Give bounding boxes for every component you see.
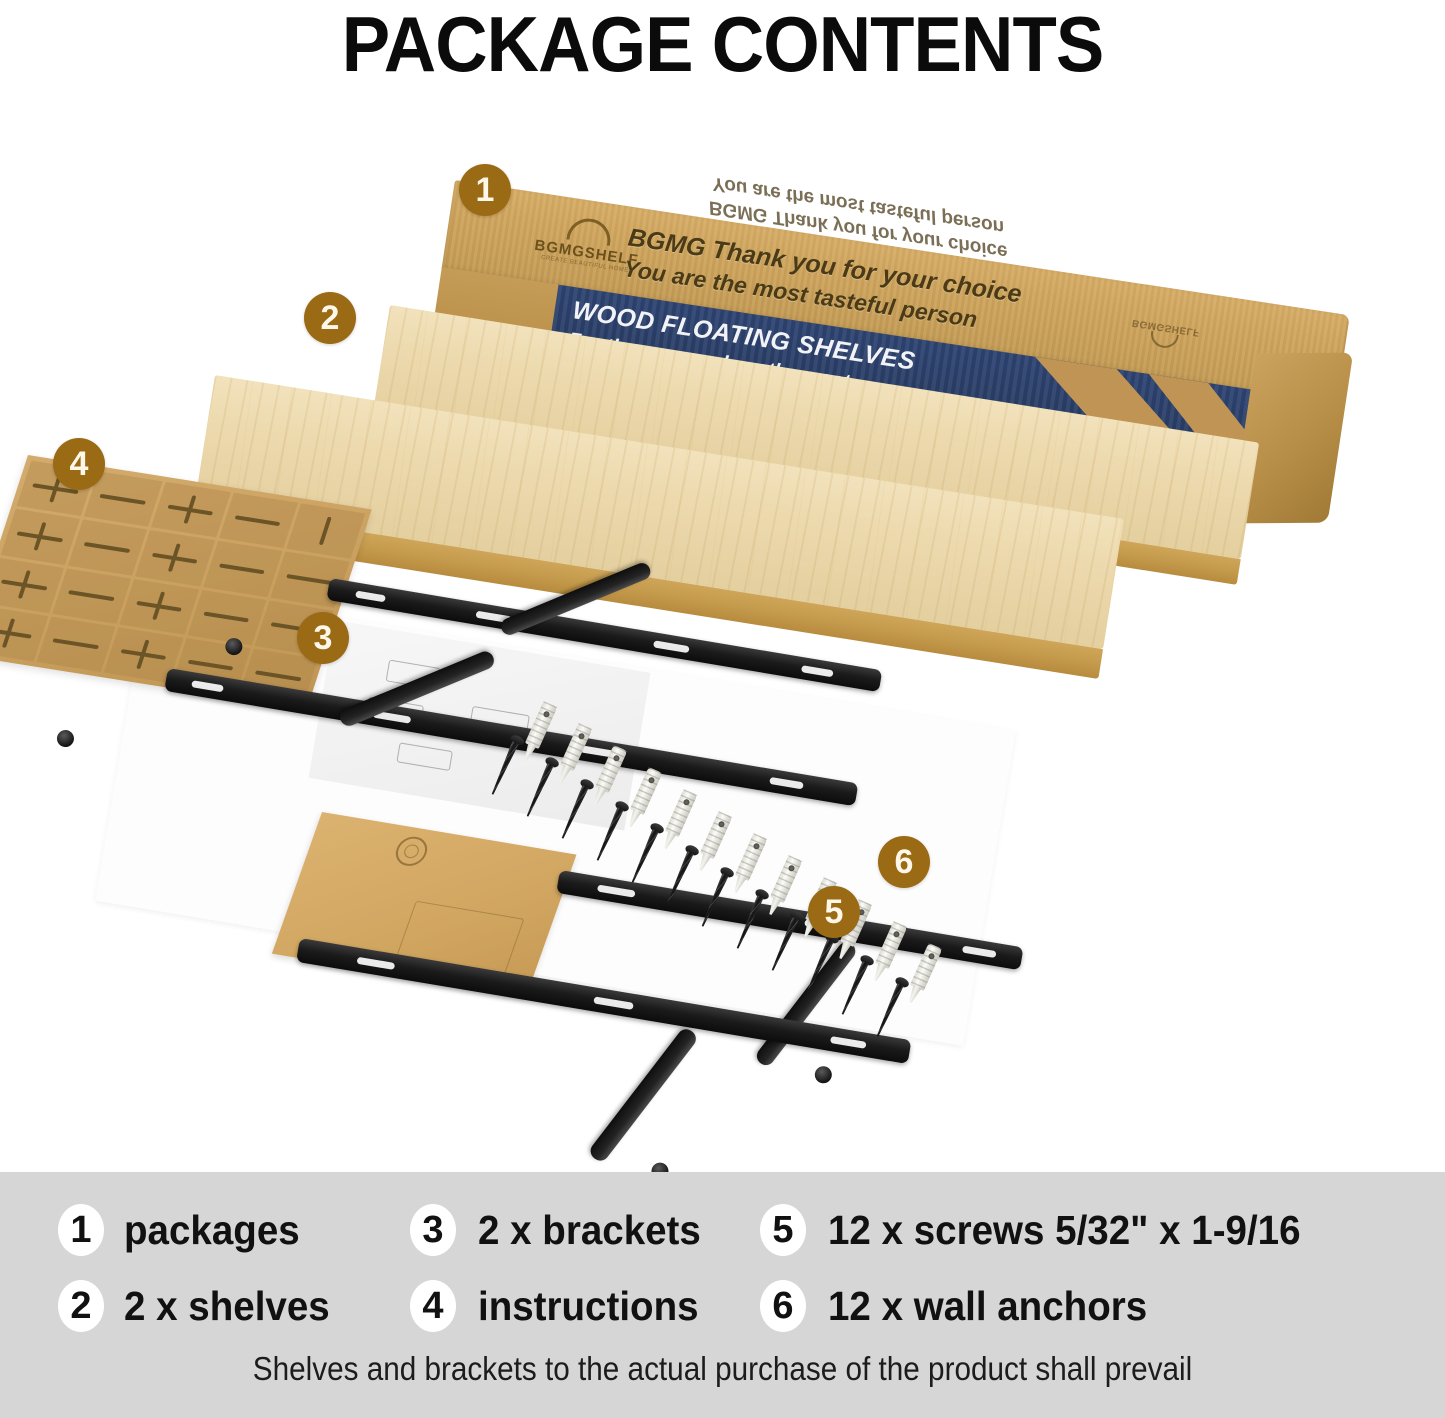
legend-item-6: 6 12 x wall anchors bbox=[760, 1280, 1403, 1332]
saw-blade-icon bbox=[566, 216, 613, 246]
bracket-diagram-icon bbox=[203, 612, 249, 623]
legend-grid: 1 packages 3 2 x brackets 5 12 x screws … bbox=[58, 1192, 1403, 1344]
legend-label-5: 12 x screws 5/32" x 1-9/16 bbox=[828, 1207, 1301, 1254]
legend-item-1: 1 packages bbox=[58, 1204, 410, 1256]
legend-label-3: 2 x brackets bbox=[478, 1207, 701, 1254]
photo-badge-4: 4 bbox=[53, 438, 105, 490]
instruction-panel bbox=[120, 579, 199, 635]
photo-badge-6: 6 bbox=[878, 836, 930, 888]
legend-item-2: 2 2 x shelves bbox=[58, 1280, 410, 1332]
legend-badge-4: 4 bbox=[410, 1280, 456, 1332]
bracket-rod-end bbox=[814, 1065, 834, 1085]
instruction-panel bbox=[151, 482, 230, 538]
bracket-support-rod bbox=[587, 1026, 699, 1165]
legend-badge-5: 5 bbox=[760, 1204, 806, 1256]
instruction-panel bbox=[136, 530, 215, 586]
bracket-diagram-icon bbox=[286, 574, 332, 585]
instruction-panel bbox=[286, 503, 365, 559]
bracket-diagram-icon bbox=[53, 639, 99, 650]
legend-disclaimer: Shelves and brackets to the actual purch… bbox=[72, 1350, 1373, 1388]
photo-badge-3: 3 bbox=[297, 612, 349, 664]
legend-badge-6: 6 bbox=[760, 1280, 806, 1332]
bracket-diagram-icon bbox=[219, 563, 265, 574]
legend-badge-3: 3 bbox=[410, 1204, 456, 1256]
legend-footer: 1 packages 3 2 x brackets 5 12 x screws … bbox=[0, 1172, 1445, 1418]
bracket-diagram-icon bbox=[319, 516, 332, 545]
photo-badge-1: 1 bbox=[459, 164, 511, 216]
bracket-diagram-icon bbox=[234, 515, 280, 526]
bracket-diagram-icon bbox=[187, 660, 233, 671]
product-photo: BGMGSHELF CREATE BEAUTIFUL HOME BGMGSHEL… bbox=[0, 100, 1445, 1172]
legend-badge-2: 2 bbox=[58, 1280, 104, 1332]
instruction-panel bbox=[52, 568, 131, 624]
legend-label-2: 2 x shelves bbox=[124, 1283, 330, 1330]
bracket-diagram-icon bbox=[100, 494, 146, 505]
seal-icon bbox=[392, 834, 432, 868]
legend-label-4: instructions bbox=[478, 1283, 699, 1330]
legend-item-4: 4 instructions bbox=[410, 1280, 760, 1332]
spec-sketch bbox=[396, 742, 453, 771]
legend-label-6: 12 x wall anchors bbox=[828, 1283, 1147, 1330]
instruction-panel bbox=[68, 520, 147, 576]
legend-label-1: packages bbox=[124, 1207, 300, 1254]
bracket-rod-end bbox=[56, 729, 76, 749]
instruction-panel bbox=[187, 589, 266, 645]
instruction-panel bbox=[203, 541, 282, 597]
instruction-panel bbox=[219, 493, 298, 549]
package-contents-infographic: PACKAGE CONTENTS BGMGSHELF CREATE BEAUTI… bbox=[0, 0, 1445, 1418]
instruction-panel bbox=[37, 616, 116, 672]
bracket-diagram-icon bbox=[255, 671, 301, 682]
legend-item-5: 5 12 x screws 5/32" x 1-9/16 bbox=[760, 1204, 1403, 1256]
legend-badge-1: 1 bbox=[58, 1204, 104, 1256]
photo-badge-2: 2 bbox=[304, 292, 356, 344]
bracket-diagram-icon bbox=[68, 590, 114, 601]
page-title: PACKAGE CONTENTS bbox=[51, 2, 1395, 86]
bracket-rod-end bbox=[650, 1161, 670, 1172]
bracket-diagram-icon bbox=[84, 542, 130, 553]
instruction-panel bbox=[1, 509, 80, 565]
photo-badge-5: 5 bbox=[808, 886, 860, 938]
legend-item-3: 3 2 x brackets bbox=[410, 1204, 760, 1256]
